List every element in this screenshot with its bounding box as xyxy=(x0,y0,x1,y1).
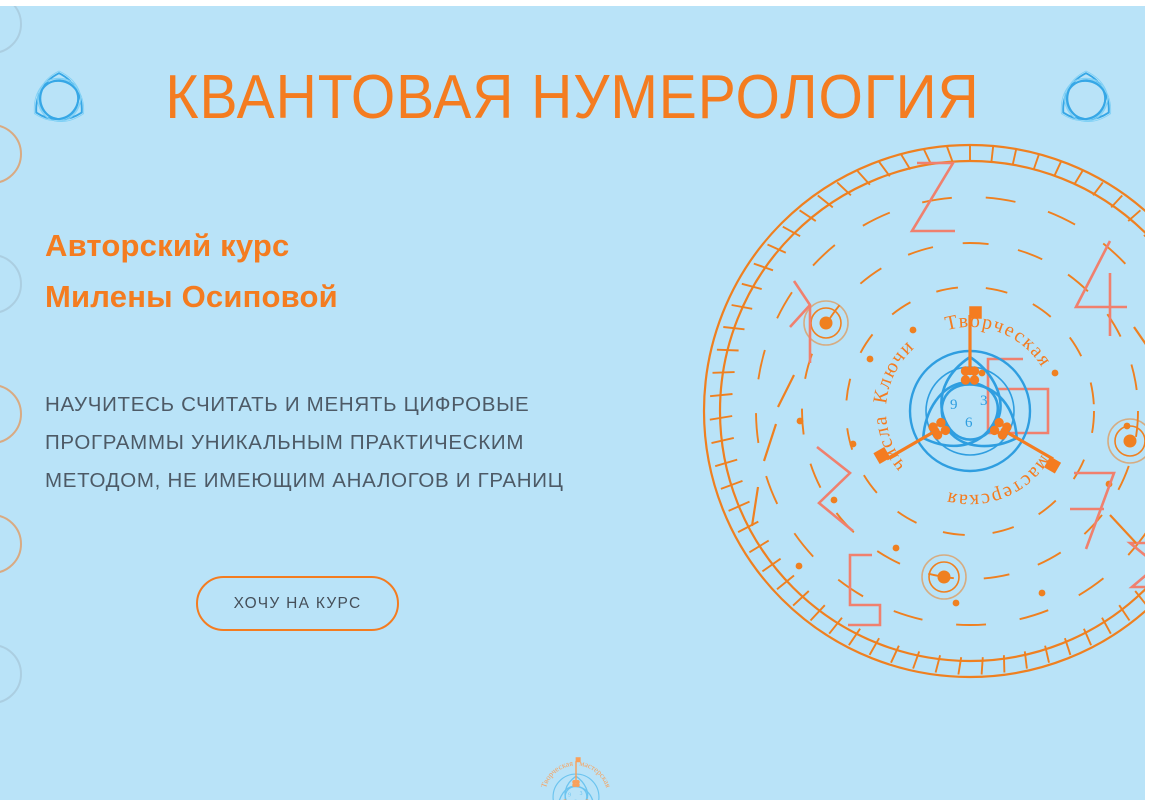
svg-text:3: 3 xyxy=(580,791,583,797)
edge-arc-icon xyxy=(0,254,22,314)
svg-text:мастерская: мастерская xyxy=(944,452,1056,513)
logo-digit-9: 9 xyxy=(950,397,958,413)
logo-digit-6: 6 xyxy=(965,415,973,431)
svg-text:Творческая: Творческая xyxy=(539,759,574,789)
hero-section: КВАНТОВАЯ НУМЕРОЛОГИЯ xyxy=(0,6,1145,800)
hero-copy: Авторский курс Милены Осиповой НАУЧИТЕСЬ… xyxy=(45,220,665,500)
hero-description: НАУЧИТЕСЬ СЧИТАТЬ И МЕНЯТЬ ЦИФРОВЫЕ ПРОГ… xyxy=(45,386,665,500)
description-line-2: ПРОГРАММЫ УНИКАЛЬНЫМ ПРАКТИЧЕСКИМ xyxy=(45,424,665,462)
edge-arc-icon xyxy=(0,514,22,574)
description-line-1: НАУЧИТЕСЬ СЧИТАТЬ И МЕНЯТЬ ЦИФРОВЫЕ xyxy=(45,386,665,424)
logo-text-left2: числа xyxy=(869,414,910,476)
page-header: КВАНТОВАЯ НУМЕРОЛОГИЯ xyxy=(0,56,1145,140)
ray-ticks-icon xyxy=(752,327,1145,543)
numeral-7-glyph xyxy=(1070,473,1114,549)
svg-text:9: 9 xyxy=(568,792,571,798)
orbit-marker-icon xyxy=(804,301,1145,599)
dashed-orbit-icon xyxy=(756,197,1145,625)
dot-decoration-icon xyxy=(796,327,1145,607)
numeral-5-glyph xyxy=(848,555,880,625)
svg-text:мастерская: мастерская xyxy=(579,759,613,789)
landing-page: КВАНТОВАЯ НУМЕРОЛОГИЯ xyxy=(0,0,1153,800)
triquetra-knot-icon xyxy=(1049,63,1123,133)
mandala-numerals xyxy=(790,163,1145,625)
numeral-3-glyph xyxy=(817,447,853,531)
numeral-2-glyph xyxy=(912,163,955,231)
subtitle-line-2: Милены Осиповой xyxy=(45,279,338,314)
logo-digit-3: 3 xyxy=(980,393,988,409)
enroll-button[interactable]: ХОЧУ НА КУРС xyxy=(196,576,399,631)
numeral-1-glyph xyxy=(790,281,810,363)
edge-arc-icon xyxy=(0,384,22,444)
course-subtitle: Авторский курс Милены Осиповой xyxy=(45,220,665,322)
svg-text:Творческая: Творческая xyxy=(943,310,1057,371)
triquetra-knot-icon xyxy=(22,63,96,133)
edge-arc-icon xyxy=(0,6,22,54)
page-title: КВАНТОВАЯ НУМЕРОЛОГИЯ xyxy=(165,67,979,129)
footer-brand-logo: Творческая мастерская 396 xyxy=(533,754,619,800)
numeral-6-glyph xyxy=(988,359,1048,433)
logo-text-bottom: мастерская xyxy=(944,452,1056,513)
svg-text:Ключи: Ключи xyxy=(869,335,919,405)
edge-arc-icon xyxy=(0,644,22,704)
brand-logo-icon: Творческая мастерская Ключи числа xyxy=(869,307,1064,512)
numeral-4-glyph xyxy=(1076,241,1127,336)
description-line-3: МЕТОДОМ, НЕ ИМЕЮЩИМ АНАЛОГОВ И ГРАНИЦ xyxy=(45,462,665,500)
key-icon xyxy=(874,307,1064,473)
logo-text-top: Творческая xyxy=(943,310,1057,371)
numerology-mandala: Творческая мастерская Ключи числа xyxy=(690,131,1145,691)
svg-text:числа: числа xyxy=(869,414,910,476)
ladder-ring-icon xyxy=(704,145,1145,677)
hourglass-glyph xyxy=(1130,543,1145,587)
subtitle-line-1: Авторский курс xyxy=(45,228,290,263)
logo-text-left: Ключи xyxy=(869,335,919,405)
